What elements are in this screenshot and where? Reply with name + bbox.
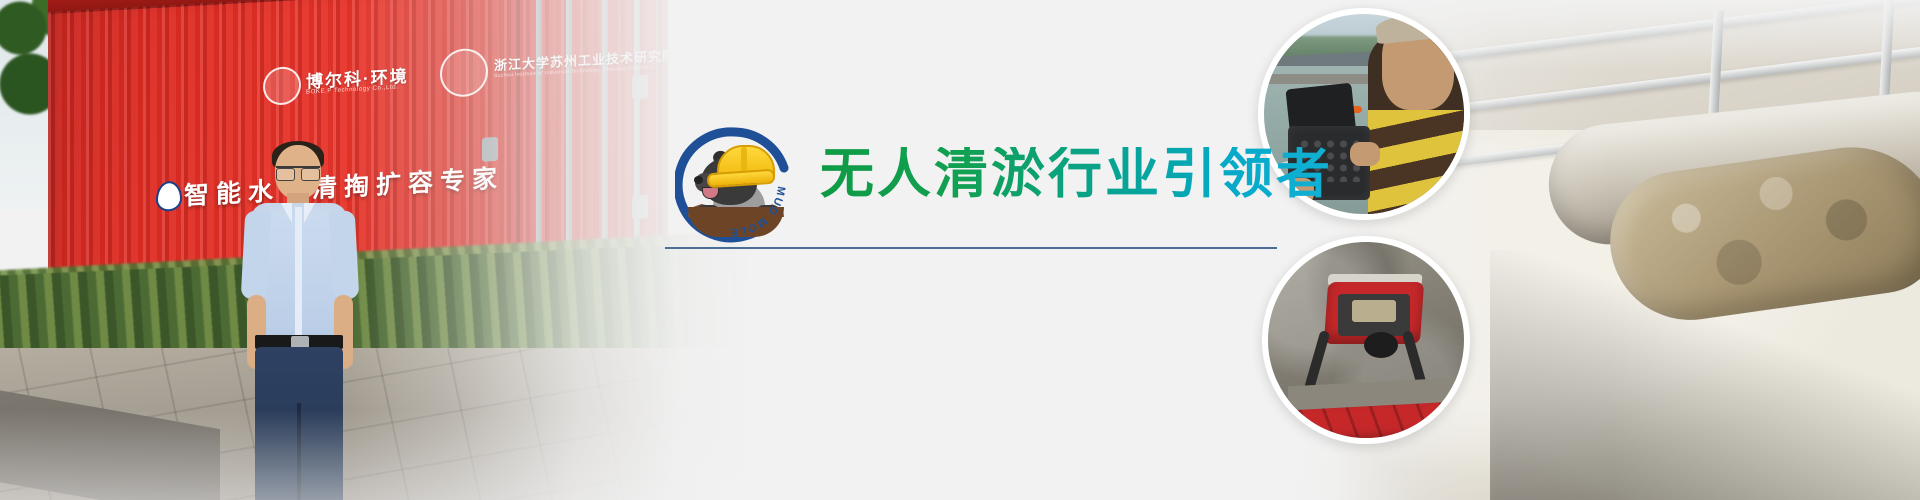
slogan-badge-icon — [156, 181, 182, 212]
robot-plate — [1352, 300, 1396, 322]
container-latch — [632, 74, 648, 99]
logo-arc-label: MUD MOLE — [728, 185, 787, 238]
hero-banner: 博尔科·环境 BOKE.P Technology Co.,Ltd. 浙江大学苏州… — [0, 0, 1920, 500]
headline-text: 无人清淤行业引领者 — [820, 147, 1333, 201]
left-photo: 博尔科·环境 BOKE.P Technology Co.,Ltd. 浙江大学苏州… — [0, 0, 760, 500]
door-lock-bar — [602, 0, 608, 261]
door-lock-bar — [566, 0, 572, 263]
dredging-robot-photo — [1262, 236, 1470, 444]
sleeve-left — [241, 210, 272, 299]
shirt-placket — [295, 207, 302, 339]
container-latch — [632, 194, 648, 219]
glasses-icon — [276, 166, 320, 179]
sleeve-right — [329, 210, 360, 299]
center-content: MUD MOLE 无人清淤行业引领者 — [660, 125, 1280, 275]
door-lock-bar — [536, 0, 542, 265]
jeans-seam — [297, 403, 301, 500]
logo-arc-text: MUD MOLE — [675, 125, 795, 245]
door-lock-bar — [634, 0, 640, 259]
mud-mole-logo: MUD MOLE — [675, 125, 795, 245]
headline-divider — [665, 247, 1277, 249]
collar-left — [281, 203, 292, 223]
collar-right — [304, 203, 315, 223]
container-door-seam-left — [516, 0, 520, 276]
person-standing — [245, 145, 355, 500]
corner-shadow — [1490, 250, 1920, 500]
operator-hand-right — [1350, 142, 1380, 166]
svg-text:MUD MOLE: MUD MOLE — [728, 185, 787, 238]
striped-shirt — [1368, 110, 1470, 220]
robot-wheel — [1364, 332, 1398, 358]
